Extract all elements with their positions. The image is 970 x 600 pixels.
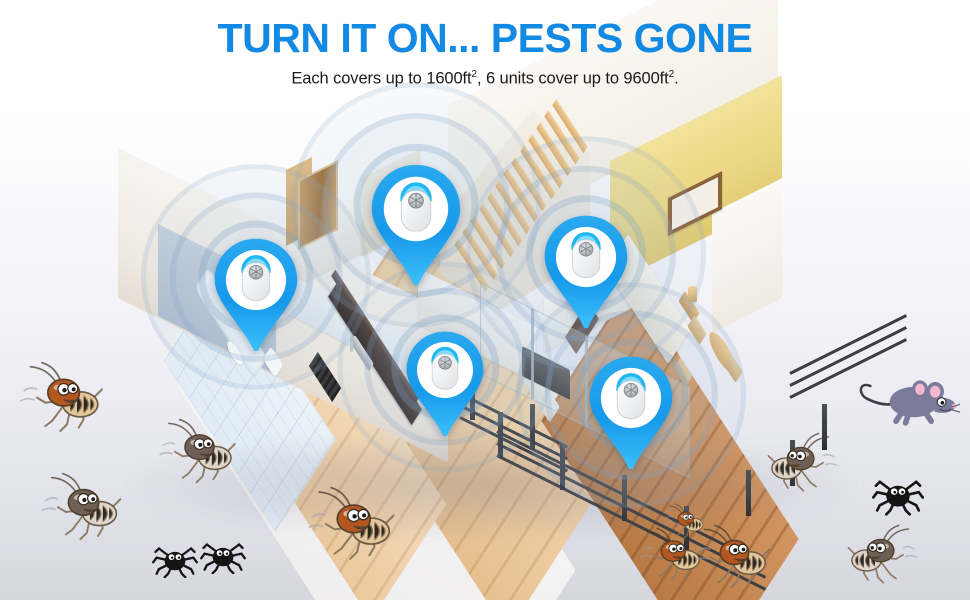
page-subtitle: Each covers up to 1600ft2, 6 units cover… (0, 69, 970, 89)
header: TURN IT ON... PESTS GONE Each covers up … (0, 0, 970, 89)
page-title: TURN IT ON... PESTS GONE (0, 17, 970, 60)
pest-cockroach-10 (760, 432, 844, 495)
cockroach-icon (760, 432, 844, 495)
pest-cockroach-3 (34, 472, 130, 544)
pest-cockroach-9 (688, 524, 778, 592)
cockroach-icon (840, 524, 924, 587)
subtitle-mid: , 6 units cover up to 9600ft (477, 70, 669, 88)
cockroach-icon (34, 472, 130, 544)
pest-spider-12 (872, 470, 924, 516)
spider-icon (872, 470, 924, 516)
pest-cockroach-1 (12, 361, 112, 436)
pest-mouse-13 (856, 365, 960, 429)
pest-cockroach-2 (152, 418, 244, 487)
cockroach-icon (152, 418, 244, 487)
pests-layer (0, 0, 970, 600)
spider-icon (200, 534, 246, 574)
pest-spider-4 (152, 538, 198, 578)
cockroach-icon (300, 486, 404, 564)
mouse-icon (856, 365, 960, 429)
cockroach-icon (688, 524, 778, 592)
pest-spider-5 (200, 534, 246, 574)
subtitle-prefix: Each covers up to 1600ft (291, 70, 471, 88)
cockroach-icon (12, 361, 112, 436)
subtitle-suffix: . (674, 70, 678, 88)
pest-cockroach-11 (840, 524, 924, 587)
spider-icon (152, 538, 198, 578)
banner-root: TURN IT ON... PESTS GONE Each covers up … (0, 0, 970, 600)
pest-cockroach-6 (300, 486, 404, 564)
